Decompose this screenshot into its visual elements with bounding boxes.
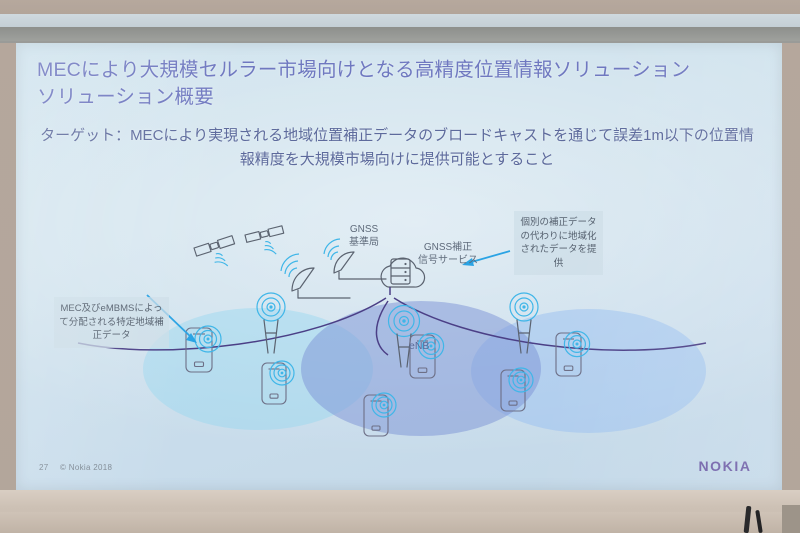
wall-shadow <box>0 27 800 42</box>
callout-localized-data: 個別の補正データの代わりに地域化されたデータを提供 <box>514 211 603 275</box>
cell-tower-icon <box>257 293 285 353</box>
presentation-slide: MECにより大規模セルラー市場向けとなる高精度位置情報ソリューション ソリューシ… <box>16 43 782 490</box>
nokia-logo-text: NOKIA <box>698 458 751 474</box>
screen-frame-top <box>0 14 800 28</box>
photo-of-projected-slide: MECにより大規模セルラー市場向けとなる高精度位置情報ソリューション ソリューシ… <box>0 0 800 533</box>
label-gnss-base-station-line-2: 基準局 <box>331 236 397 249</box>
label-gnss-base-station-line-1: GNSS <box>331 223 397 236</box>
page-title: MECにより大規模セルラー市場向けとなる高精度位置情報ソリューション ソリューシ… <box>37 57 737 111</box>
smartphone-icon <box>364 393 396 436</box>
backhaul-link-down <box>376 301 388 355</box>
smartphone-icon <box>262 361 294 404</box>
slide-subtitle: ターゲット：MECにより実現される地域位置補正データのブロードキャストを通じて誤… <box>40 124 754 172</box>
label-gnss-correction-service: GNSS補正 信号サービス <box>408 241 488 267</box>
nokia-logo: NOKIA <box>685 455 765 477</box>
smartphone-icon <box>501 368 533 411</box>
page-title-line-2: ソリューション概要 <box>37 84 737 111</box>
cell-tower-icon <box>389 306 420 368</box>
label-gnss-correction-service-line-2: 信号サービス <box>408 254 488 267</box>
page-number: 27 <box>39 463 49 472</box>
parabolic-dish-icon <box>281 254 350 298</box>
page-title-line-1: MECにより大規模セルラー市場向けとなる高精度位置情報ソリューション <box>37 57 737 84</box>
callout-mec-embms: MEC及びeMBMSによって分配される特定地域補正データ <box>54 297 169 348</box>
label-gnss-correction-service-line-1: GNSS補正 <box>408 241 488 254</box>
desk-front-edge <box>0 512 800 533</box>
satellite-icon <box>245 226 288 261</box>
copyright-notice: © Nokia 2018 <box>60 463 112 472</box>
label-enb: eNB <box>409 340 443 353</box>
room-right-edge <box>782 505 800 533</box>
label-gnss-base-station: GNSS 基準局 <box>331 223 397 249</box>
satellite-icon <box>194 236 240 275</box>
slide-footer: 27 © Nokia 2018 <box>39 463 112 472</box>
smartphone-icon <box>556 331 590 376</box>
